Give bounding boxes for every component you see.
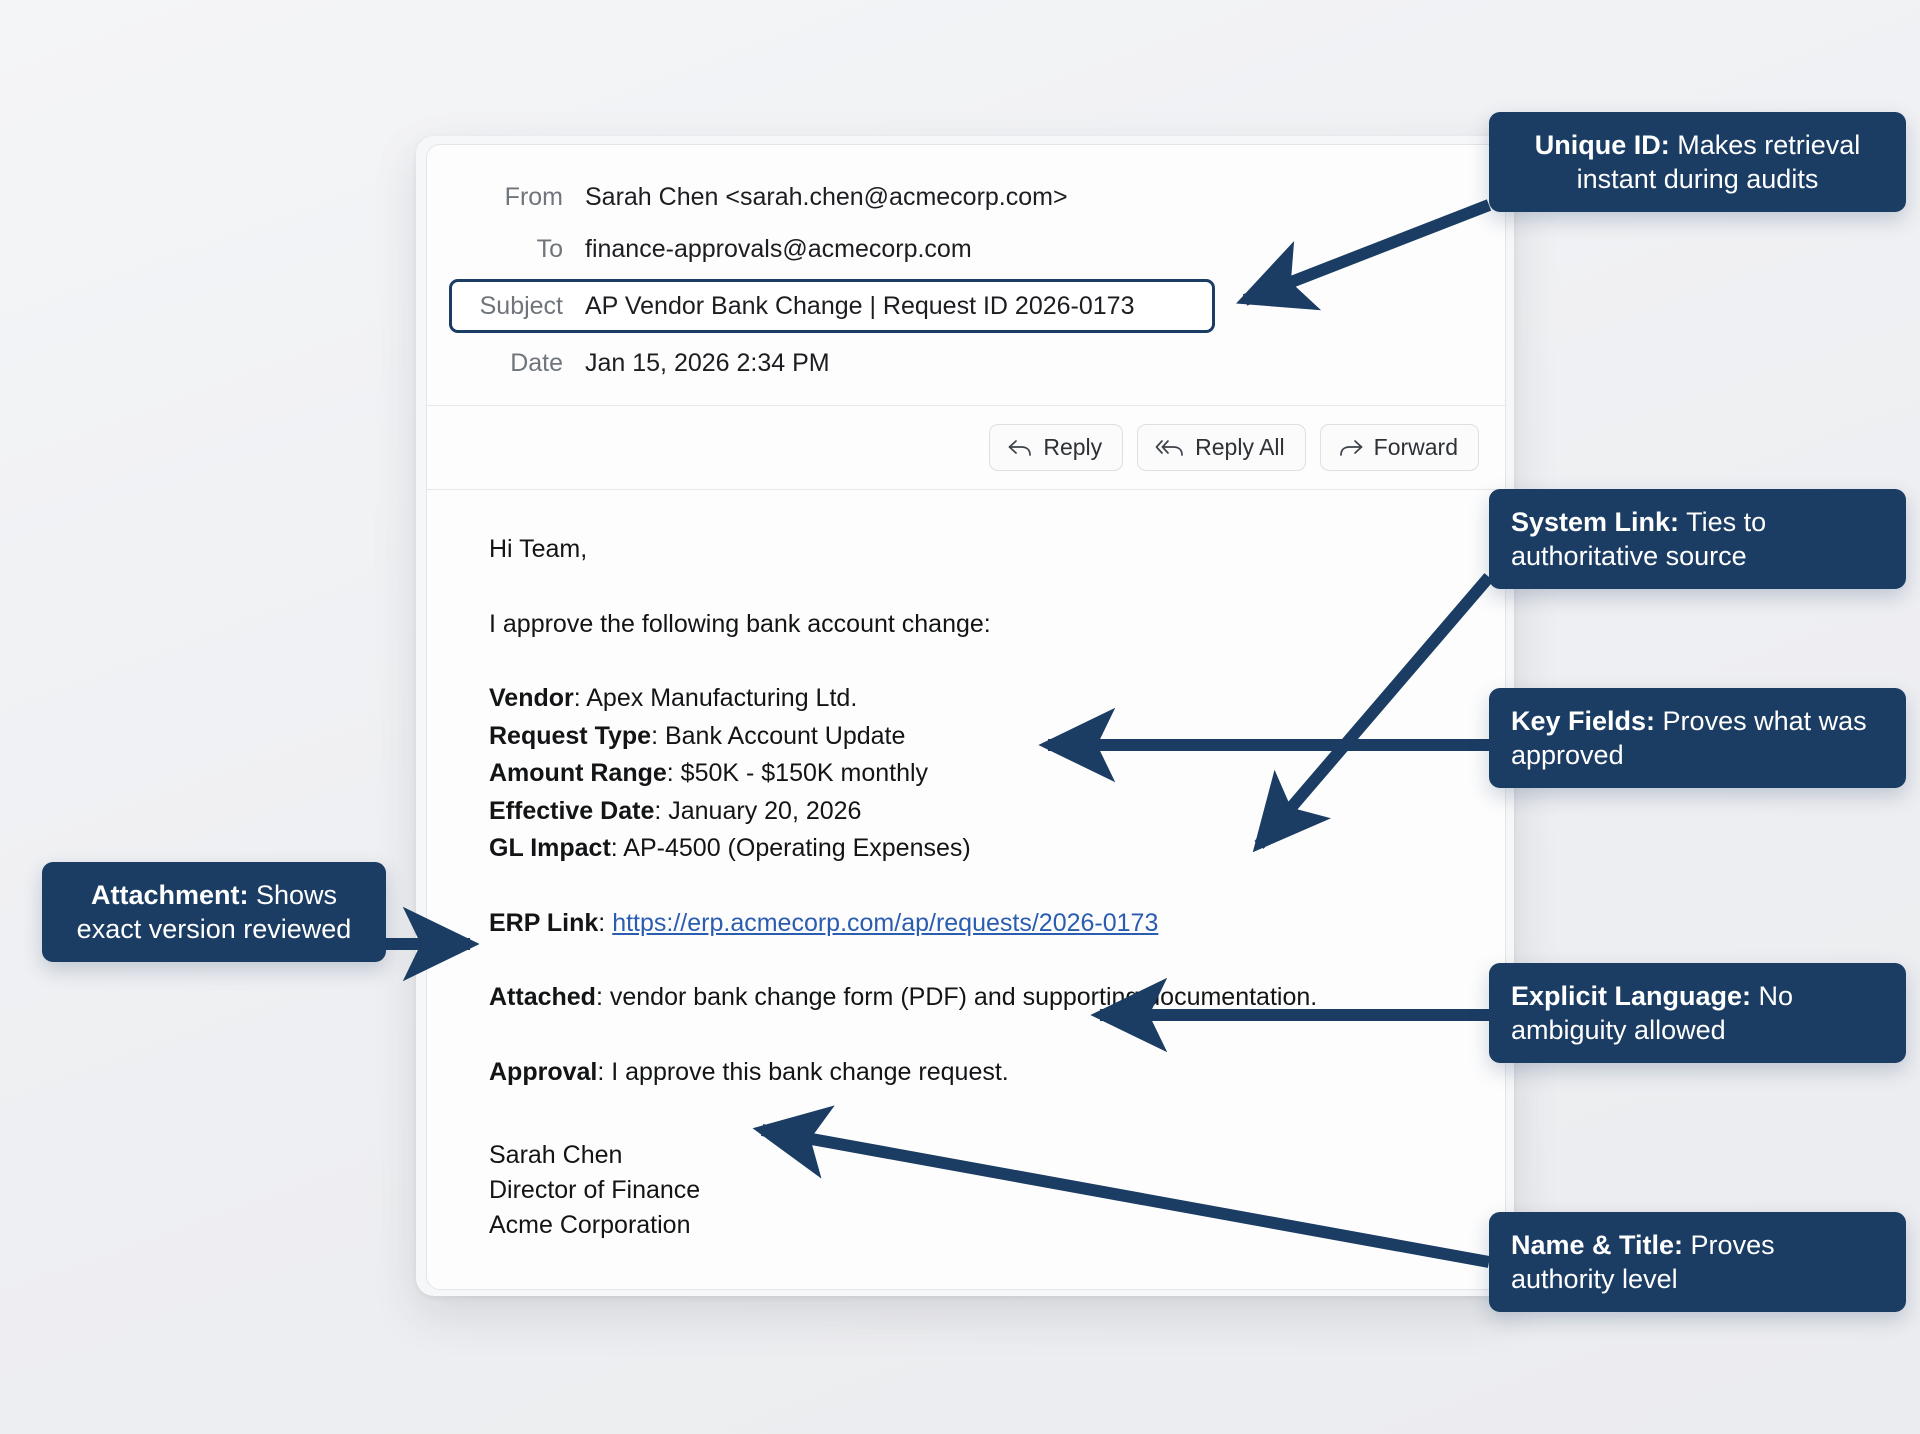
callout-name-title: Name & Title: Proves authority level bbox=[1489, 1212, 1906, 1312]
field-effective-date: Effective Date: January 20, 2026 bbox=[489, 796, 1465, 827]
field-amount-range-label: Amount Range bbox=[489, 759, 667, 787]
header-row-date: Date Jan 15, 2026 2:34 PM bbox=[449, 337, 1471, 389]
erp-link-separator: : bbox=[598, 909, 612, 937]
email-header: From Sarah Chen <sarah.chen@acmecorp.com… bbox=[427, 145, 1505, 399]
signature-block: Sarah Chen Director of Finance Acme Corp… bbox=[489, 1139, 1465, 1242]
to-value: finance-approvals@acmecorp.com bbox=[585, 235, 972, 264]
callout-explicit-language-title: Explicit Language: bbox=[1511, 981, 1751, 1011]
reply-all-button[interactable]: Reply All bbox=[1137, 424, 1305, 471]
field-amount-range-value: : $50K - $150K monthly bbox=[667, 759, 928, 787]
callout-explicit-language: Explicit Language: No ambiguity allowed bbox=[1489, 963, 1906, 1063]
callout-attachment: Attachment: Shows exact version reviewed bbox=[42, 862, 386, 962]
reply-all-button-label: Reply All bbox=[1195, 434, 1284, 461]
header-row-to: To finance-approvals@acmecorp.com bbox=[449, 223, 1471, 275]
to-label: To bbox=[449, 235, 585, 264]
signature-company: Acme Corporation bbox=[489, 1209, 1465, 1242]
callout-key-fields-title: Key Fields: bbox=[1511, 706, 1655, 736]
callout-name-title-title: Name & Title: bbox=[1511, 1230, 1683, 1260]
signature-title: Director of Finance bbox=[489, 1174, 1465, 1207]
body-greeting: Hi Team, bbox=[489, 534, 1465, 565]
signature-name: Sarah Chen bbox=[489, 1139, 1465, 1172]
field-amount-range: Amount Range: $50K - $150K monthly bbox=[489, 758, 1465, 789]
header-row-subject-highlighted: Subject AP Vendor Bank Change | Request … bbox=[449, 279, 1215, 333]
subject-value: AP Vendor Bank Change | Request ID 2026-… bbox=[585, 292, 1134, 321]
callout-unique-id-title: Unique ID: bbox=[1535, 130, 1670, 160]
date-label: Date bbox=[449, 349, 585, 378]
field-vendor: Vendor: Apex Manufacturing Ltd. bbox=[489, 683, 1465, 714]
body-intro: I approve the following bank account cha… bbox=[489, 609, 1465, 640]
from-label: From bbox=[449, 183, 585, 212]
attached-line: Attached: vendor bank change form (PDF) … bbox=[489, 982, 1465, 1013]
approval-text: : I approve this bank change request. bbox=[597, 1058, 1008, 1086]
approval-line: Approval: I approve this bank change req… bbox=[489, 1057, 1465, 1088]
erp-link-line: ERP Link: https://erp.acmecorp.com/ap/re… bbox=[489, 908, 1465, 939]
forward-button-label: Forward bbox=[1374, 434, 1458, 461]
attached-text: : vendor bank change form (PDF) and supp… bbox=[596, 983, 1317, 1011]
email-action-bar: Reply Reply All bbox=[427, 406, 1505, 489]
field-request-type-value: : Bank Account Update bbox=[651, 722, 905, 750]
approval-fields-block: Vendor: Apex Manufacturing Ltd. Request … bbox=[489, 683, 1465, 864]
field-gl-impact: GL Impact: AP-4500 (Operating Expenses) bbox=[489, 833, 1465, 864]
subject-label: Subject bbox=[452, 292, 585, 321]
callout-unique-id: Unique ID: Makes retrieval instant durin… bbox=[1489, 112, 1906, 212]
from-value: Sarah Chen <sarah.chen@acmecorp.com> bbox=[585, 183, 1068, 212]
callout-system-link: System Link: Ties to authoritative sourc… bbox=[1489, 489, 1906, 589]
field-gl-impact-value: : AP-4500 (Operating Expenses) bbox=[611, 834, 971, 862]
field-request-type-label: Request Type bbox=[489, 722, 651, 750]
email-card: From Sarah Chen <sarah.chen@acmecorp.com… bbox=[426, 144, 1506, 1290]
callout-key-fields: Key Fields: Proves what was approved bbox=[1489, 688, 1906, 788]
field-effective-date-value: : January 20, 2026 bbox=[654, 797, 861, 825]
approval-label: Approval bbox=[489, 1058, 597, 1086]
reply-button[interactable]: Reply bbox=[989, 424, 1123, 471]
attached-label: Attached bbox=[489, 983, 596, 1011]
email-card-shell: From Sarah Chen <sarah.chen@acmecorp.com… bbox=[416, 136, 1514, 1296]
callout-attachment-title: Attachment: bbox=[91, 880, 249, 910]
field-effective-date-label: Effective Date bbox=[489, 797, 654, 825]
email-body: Hi Team, I approve the following bank ac… bbox=[427, 489, 1505, 1284]
page-background: From Sarah Chen <sarah.chen@acmecorp.com… bbox=[0, 0, 1920, 1434]
reply-arrow-icon bbox=[1007, 437, 1033, 459]
forward-button[interactable]: Forward bbox=[1320, 424, 1479, 471]
header-row-from: From Sarah Chen <sarah.chen@acmecorp.com… bbox=[449, 171, 1471, 223]
erp-link-label: ERP Link bbox=[489, 909, 598, 937]
reply-all-arrow-icon bbox=[1155, 437, 1185, 459]
callout-system-link-title: System Link: bbox=[1511, 507, 1679, 537]
forward-arrow-icon bbox=[1338, 437, 1364, 459]
field-request-type: Request Type: Bank Account Update bbox=[489, 721, 1465, 752]
reply-button-label: Reply bbox=[1043, 434, 1102, 461]
erp-link-url[interactable]: https://erp.acmecorp.com/ap/requests/202… bbox=[612, 909, 1158, 937]
field-gl-impact-label: GL Impact bbox=[489, 834, 611, 862]
date-value: Jan 15, 2026 2:34 PM bbox=[585, 349, 830, 378]
field-vendor-value: : Apex Manufacturing Ltd. bbox=[574, 684, 858, 712]
field-vendor-label: Vendor bbox=[489, 684, 574, 712]
